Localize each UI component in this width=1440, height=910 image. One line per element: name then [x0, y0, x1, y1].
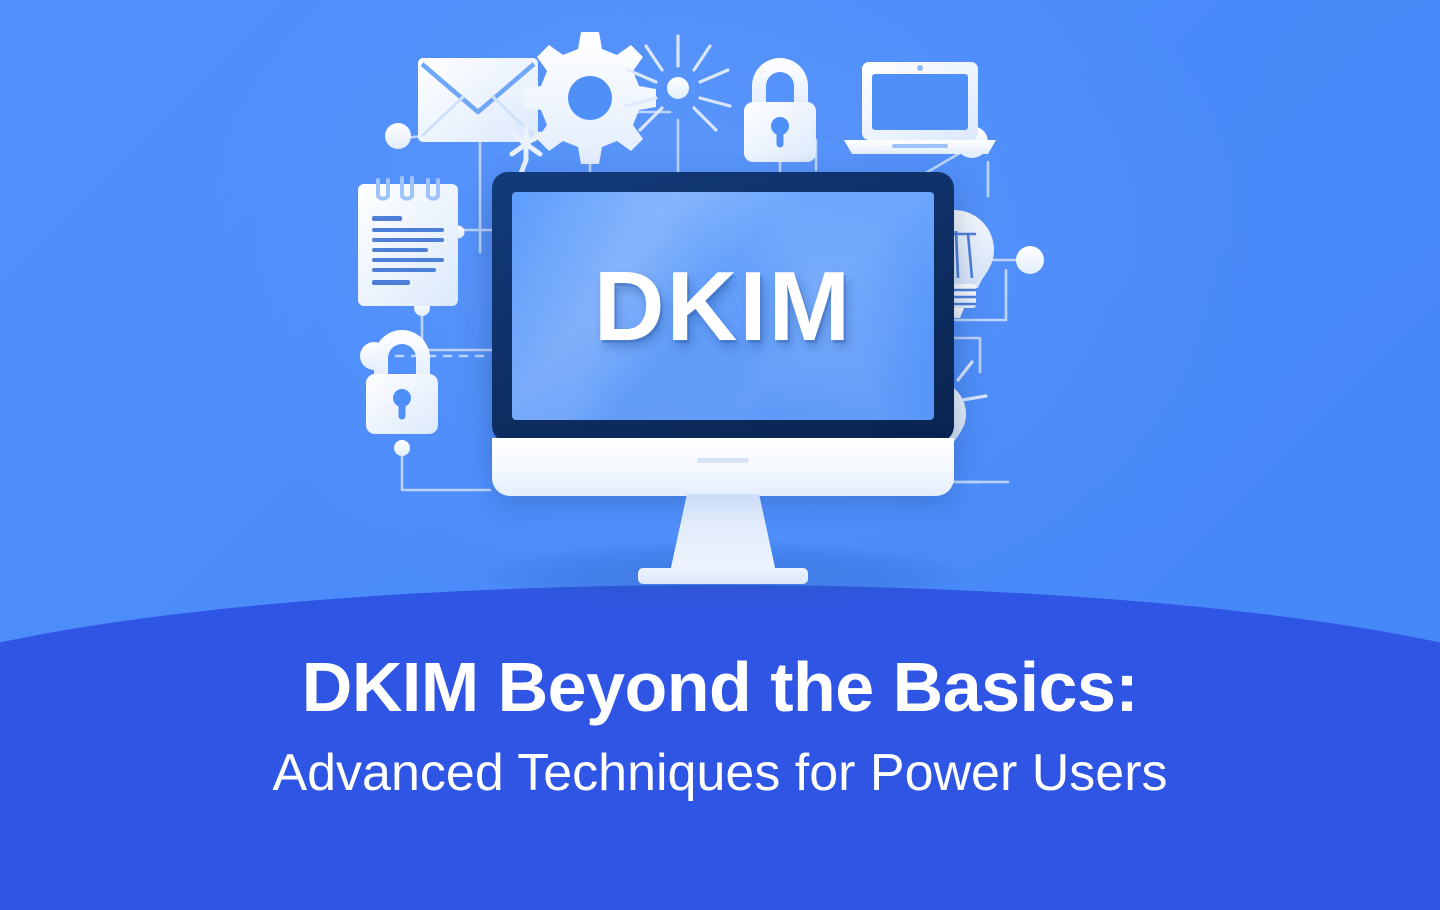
laptop-icon	[844, 62, 996, 154]
connector-node	[1016, 246, 1044, 274]
headline: DKIM Beyond the Basics:	[0, 648, 1440, 726]
illustration-stage: DKIM	[0, 0, 1440, 640]
envelope-icon	[418, 58, 538, 142]
screen-label: DKIM	[594, 257, 852, 355]
title-block: DKIM Beyond the Basics: Advanced Techniq…	[0, 648, 1440, 804]
monitor-stand-base	[638, 568, 808, 584]
notepad-icon	[358, 178, 458, 306]
connector-node	[394, 440, 410, 456]
padlock-icon-top	[744, 58, 816, 162]
subheadline: Advanced Techniques for Power Users	[0, 744, 1440, 804]
asterisk-icon	[512, 128, 540, 176]
monitor-stand-neck	[670, 494, 776, 572]
connector-node	[385, 123, 411, 149]
monitor-chin	[492, 438, 954, 496]
gear-icon	[524, 32, 656, 164]
monitor-screen: DKIM	[512, 192, 934, 420]
monitor-bezel: DKIM	[492, 172, 954, 442]
banner-root: DKIM DKIM Beyond the Basics: Advanced Te…	[0, 0, 1440, 910]
desktop-monitor: DKIM	[492, 172, 954, 572]
sparkle-icon	[626, 36, 730, 130]
